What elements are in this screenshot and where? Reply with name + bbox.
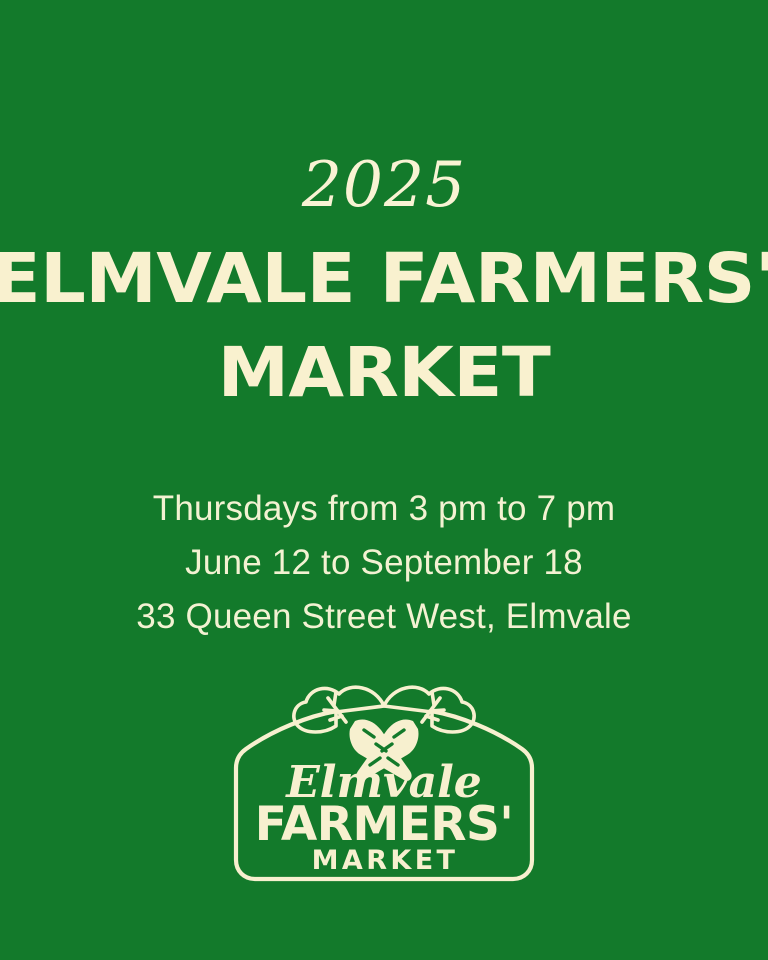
- market-logo: Elmvale FARMERS' MARKET: [224, 678, 544, 890]
- headline-line-1: ELMVALE FARMERS': [0, 236, 768, 322]
- poster-canvas: 2025 ELMVALE FARMERS' MARKET Thursdays f…: [0, 0, 768, 960]
- headline-line-2: MARKET: [0, 330, 768, 416]
- page-title: ELMVALE FARMERS' MARKET: [0, 236, 768, 416]
- detail-dates: June 12 to September 18: [0, 536, 768, 590]
- logo-primary-word: FARMERS': [255, 797, 514, 852]
- detail-hours: Thursdays from 3 pm to 7 pm: [0, 482, 768, 536]
- logo-secondary-word: MARKET: [312, 845, 459, 876]
- event-details: Thursdays from 3 pm to 7 pm June 12 to S…: [0, 482, 768, 644]
- year-label: 2025: [0, 148, 768, 222]
- detail-address: 33 Queen Street West, Elmvale: [0, 590, 768, 644]
